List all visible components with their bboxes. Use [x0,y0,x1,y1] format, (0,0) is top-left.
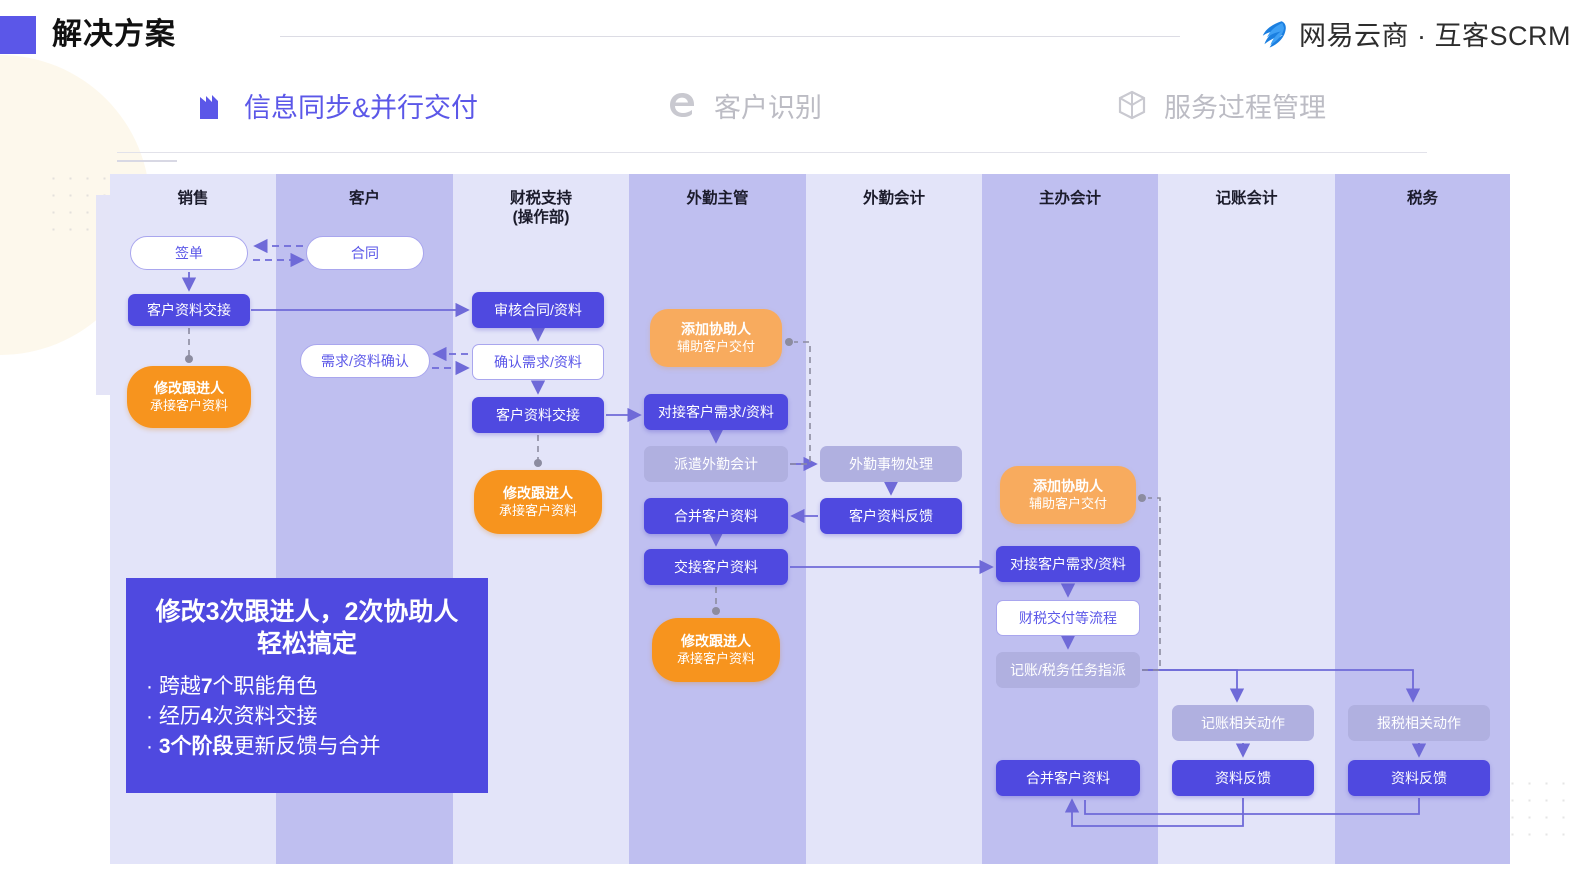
chart-bar-icon [196,89,228,121]
node-bookkeeping-actions[interactable]: 记账相关动作 [1172,705,1314,741]
node-change-owner-finance[interactable]: 修改跟进人承接客户资料 [474,470,602,534]
node-sign-order[interactable]: 签单 [130,236,248,270]
summary-callout: 修改3次跟进人，2次协助人轻松搞定 · 跨越7个职能角色 · 经历4次资料交接 … [126,578,488,793]
node-data-feedback-tax[interactable]: 资料反馈 [1348,760,1490,796]
node-add-assistant-supervisor[interactable]: 添加协助人辅助客户交付 [650,309,782,367]
lane-title: 财税支持(操作部) [453,189,629,227]
node-merge-customer-data-supervisor[interactable]: 合并客户资料 [644,498,788,534]
tab-label: 服务过程管理 [1164,86,1326,125]
node-merge-customer-data-lead[interactable]: 合并客户资料 [996,760,1140,796]
edge-e-icon [666,89,698,121]
tab-service-process-management[interactable]: 服务过程管理 [1116,80,1326,130]
lane-title: 税务 [1335,189,1510,208]
lane-title: 外勤主管 [629,189,806,208]
node-data-feedback-bookkeeper[interactable]: 资料反馈 [1172,760,1314,796]
lane-title: 主办会计 [982,189,1158,208]
node-customer-data-feedback[interactable]: 客户资料反馈 [820,498,962,534]
tab-label: 信息同步&并行交付 [244,86,478,125]
tabs-divider [117,152,1427,153]
brand-text: 网易云商 · 互客SCRM [1299,14,1571,53]
node-match-customer-need-lead[interactable]: 对接客户需求/资料 [996,546,1140,582]
tab-info-sync[interactable]: 信息同步&并行交付 [196,80,478,130]
node-add-assistant-lead[interactable]: 添加协助人辅助客户交付 [1000,466,1136,524]
node-change-owner-sales[interactable]: 修改跟进人承接客户资料 [127,366,251,428]
cube-icon [1116,89,1148,121]
brand: 网易云商 · 互客SCRM [1256,14,1571,53]
callout-item: · 经历4次资料交接 [146,702,468,732]
node-contract[interactable]: 合同 [306,236,424,270]
node-review-contract[interactable]: 审核合同/资料 [472,292,604,328]
callout-item: · 跨越7个职能角色 [146,672,468,702]
node-confirm-requirement[interactable]: 确认需求/资料 [472,344,604,380]
lane-title: 记账会计 [1158,189,1335,208]
node-requirement-confirm[interactable]: 需求/资料确认 [300,344,430,378]
callout-list: · 跨越7个职能角色 · 经历4次资料交接 · 3个阶段更新反馈与合并 [146,672,468,762]
section-tabs: 信息同步&并行交付 客户识别 服务过程管理 [196,80,1436,130]
node-change-owner-supervisor[interactable]: 修改跟进人承接客户资料 [652,618,780,682]
header-divider [280,36,1180,37]
node-dispatch-field-accountant[interactable]: 派遣外勤会计 [644,446,788,482]
node-field-task-processing[interactable]: 外勤事物处理 [820,446,962,482]
lane-title: 客户 [276,189,453,208]
callout-item: · 3个阶段更新反馈与合并 [146,732,468,762]
node-handover-customer-data[interactable]: 交接客户资料 [644,549,788,585]
header-accent-mark [0,16,36,54]
node-match-customer-need-supervisor[interactable]: 对接客户需求/资料 [644,394,788,430]
callout-title: 修改3次跟进人，2次协助人轻松搞定 [146,596,468,660]
page-header: 解决方案 网易云商 · 互客SCRM [0,14,1585,58]
page-title: 解决方案 [52,16,176,54]
node-customer-data-handover-finance[interactable]: 客户资料交接 [472,397,604,433]
netease-cloud-logo-icon [1256,17,1290,51]
tab-label: 客户识别 [714,86,822,125]
node-customer-data-handover-sales[interactable]: 客户资料交接 [128,294,250,326]
node-tax-filing-actions[interactable]: 报税相关动作 [1348,705,1490,741]
decor-line [117,160,177,162]
swimlane-diagram: 销售 客户 财税支持(操作部) 外勤主管 外勤会计 主办会计 记账会计 税务 [110,174,1510,864]
node-finance-delivery-process[interactable]: 财税交付等流程 [996,600,1140,636]
lane-title: 销售 [110,189,276,208]
node-task-assignment[interactable]: 记账/税务任务指派 [996,652,1140,688]
tab-customer-identification[interactable]: 客户识别 [666,80,822,130]
lane-title: 外勤会计 [806,189,982,208]
